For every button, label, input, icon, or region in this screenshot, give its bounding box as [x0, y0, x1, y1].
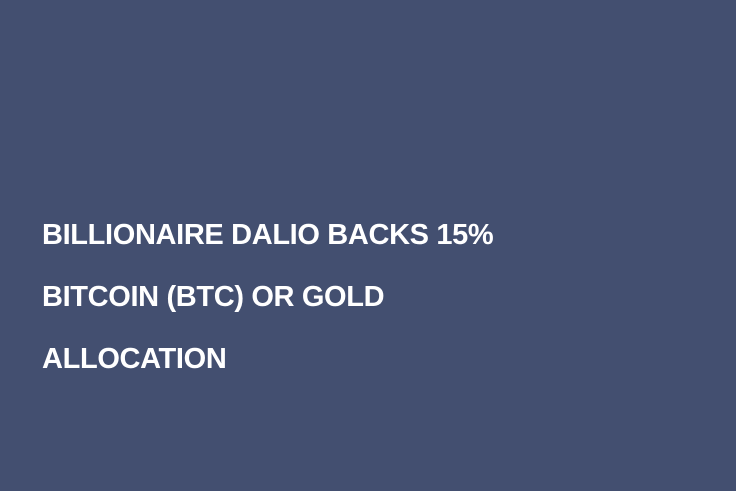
headline-line-3: ALLOCATION — [42, 344, 642, 375]
headline-card: BILLIONAIRE DALIO BACKS 15% BITCOIN (BTC… — [0, 0, 736, 491]
headline-line-1: BILLIONAIRE DALIO BACKS 15% — [42, 220, 642, 251]
headline-block: BILLIONAIRE DALIO BACKS 15% BITCOIN (BTC… — [42, 189, 642, 406]
headline-line-2: BITCOIN (BTC) OR GOLD — [42, 282, 642, 313]
page-title: BILLIONAIRE DALIO BACKS 15% BITCOIN (BTC… — [42, 189, 642, 406]
